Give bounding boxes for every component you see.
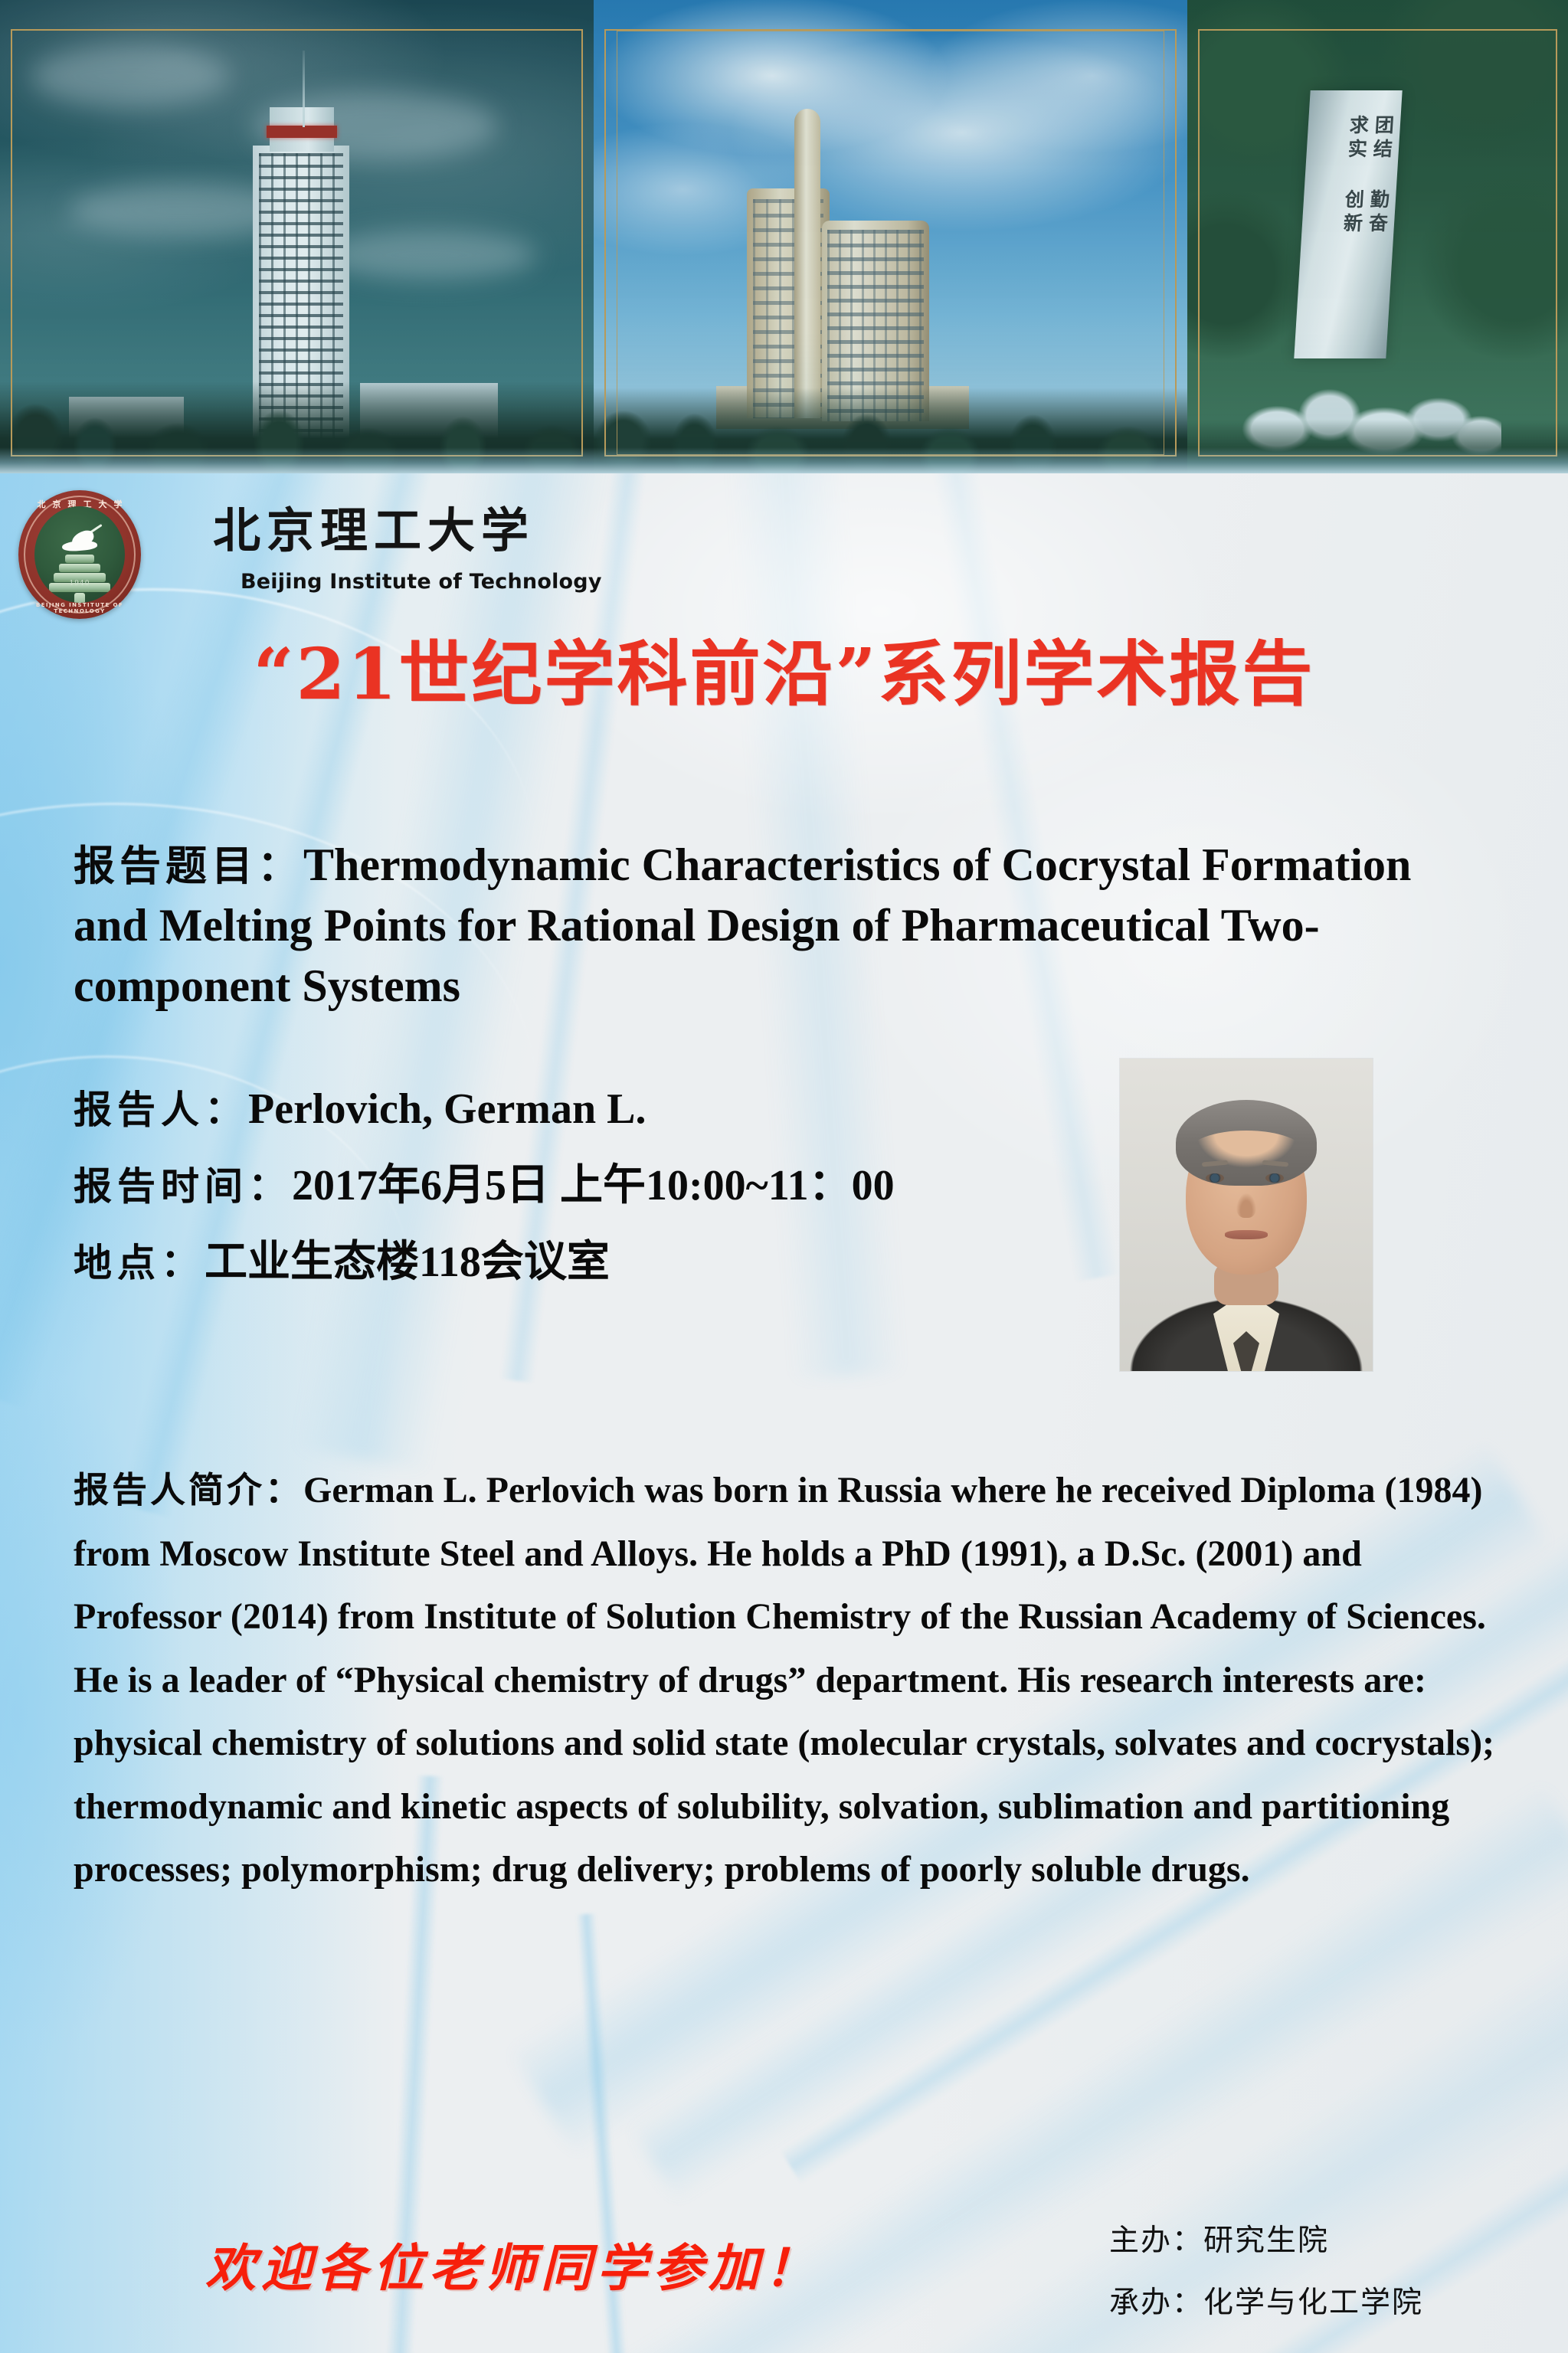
speaker-label: 报告人： [74, 1087, 248, 1132]
place-value: 工业生态楼118会议室 [205, 1239, 610, 1286]
emblem-year-text: 1940 [34, 580, 125, 587]
banner-bottom-fade [0, 447, 1568, 473]
dove-icon [57, 532, 102, 558]
series-title: “21世纪学科前沿”系列学术报告 [0, 637, 1568, 712]
speaker-row: 报告人：Perlovich, German L. [74, 1088, 1092, 1131]
cloud-shape [31, 46, 230, 107]
university-name-cn: 北京理工大学 [213, 507, 535, 555]
header-photo-banner: 团结 勤奋 求实 创新 [0, 0, 1568, 473]
speaker-value: Perlovich, German L. [248, 1085, 646, 1133]
bit-emblem-icon: 北京理工大学 BEIJING INSTITUTE OF TECHNOLOGY 1… [18, 490, 141, 619]
portrait-eye-left [1206, 1173, 1224, 1183]
bio-text: German L. Perlovich was born in Russia w… [74, 1470, 1494, 1890]
emblem-en-text: BEIJING INSTITUTE OF TECHNOLOGY [18, 602, 141, 614]
university-name-en: Beijing Institute of Technology [241, 570, 602, 594]
poster-background [0, 473, 1568, 2353]
olive-branch-icon [84, 524, 102, 537]
time-row: 报告时间：2017年6月5日 上午10:00~11：00 [74, 1164, 1092, 1207]
building-sign [267, 126, 337, 138]
time-value: 2017年6月5日 上午10:00~11：00 [292, 1162, 895, 1209]
place-row: 地点：工业生态楼118会议室 [74, 1241, 1092, 1284]
portrait-eye-right [1265, 1173, 1284, 1183]
antenna-mast [303, 51, 305, 127]
campus-photo-main-tower [0, 0, 594, 473]
topic-label: 报告题目： [74, 841, 303, 890]
central-spine [794, 109, 820, 418]
monument-inscription: 团结 勤奋 求实 创新 [1304, 115, 1393, 345]
portrait-mouth [1225, 1230, 1268, 1239]
campus-photo-twin-towers [594, 0, 1187, 473]
emblem-core: 1940 [34, 506, 125, 603]
university-logo-row: 北京理工大学 BEIJING INSTITUTE OF TECHNOLOGY 1… [18, 490, 708, 613]
speaker-portrait [1120, 1059, 1373, 1371]
seminar-poster: 团结 勤奋 求实 创新 [0, 0, 1568, 2353]
organizer-block: 主办：研究生院 承办：化学与化工学院 [1109, 2226, 1423, 2350]
left-blue-wash [0, 473, 398, 2353]
place-label: 地点： [74, 1240, 205, 1285]
report-meta-block: 报告人：Perlovich, German L. 报告时间：2017年6月5日 … [74, 1088, 1092, 1317]
speaker-bio-block: 报告人简介：German L. Perlovich was born in Ru… [74, 1459, 1498, 1902]
portrait-hair [1176, 1100, 1317, 1186]
campus-photo-monument: 团结 勤奋 求实 创新 [1187, 0, 1568, 473]
bio-label: 报告人简介： [74, 1469, 303, 1510]
time-label: 报告时间： [74, 1163, 292, 1209]
cloud-shape [322, 230, 536, 280]
host-line: 主办：研究生院 [1109, 2226, 1423, 2256]
welcome-message: 欢迎各位老师同学参加！ [205, 2227, 820, 2301]
portrait-nose [1236, 1193, 1256, 1218]
report-topic-block: 报告题目：Thermodynamic Characteristics of Co… [74, 835, 1483, 1017]
organizer-line: 承办：化学与化工学院 [1109, 2288, 1423, 2318]
